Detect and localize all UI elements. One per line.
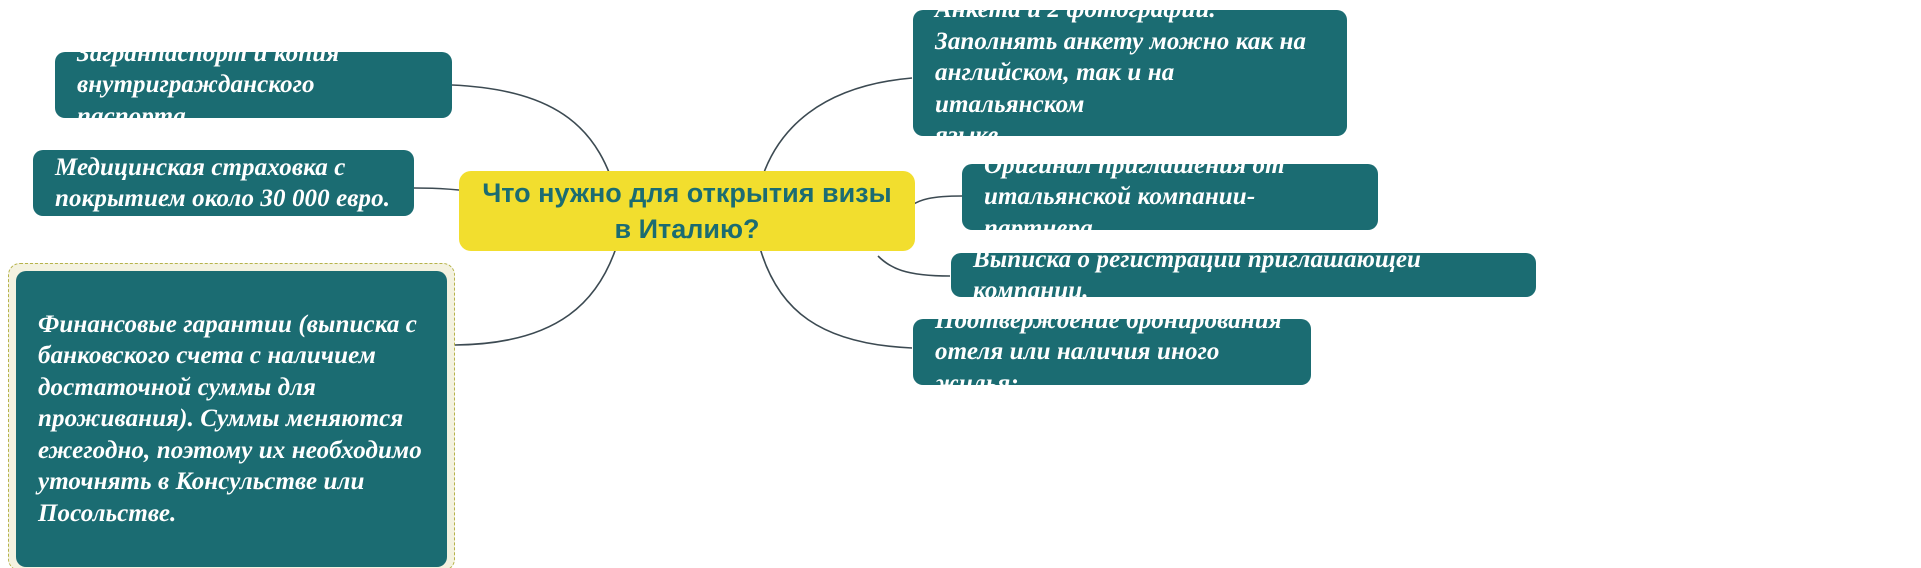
central-node-label: Что нужно для открытия визы в Италию? bbox=[473, 175, 901, 247]
connector-to-invitation-original bbox=[912, 196, 962, 205]
branch-node-medical-insurance[interactable]: Медицинская страховка с покрытием около … bbox=[33, 150, 414, 216]
branch-node-hotel-booking[interactable]: Подтверждение бронирования отеля или нал… bbox=[913, 319, 1311, 385]
branch-label-hotel-booking: Подтверждение бронирования отеля или нал… bbox=[935, 305, 1291, 400]
connector-to-form-photos bbox=[762, 78, 912, 178]
branch-node-form-photos[interactable]: Анкета и 2 фотографии. Заполнять анкету … bbox=[913, 10, 1347, 136]
branch-label-form-photos: Анкета и 2 фотографии. Заполнять анкету … bbox=[935, 0, 1327, 152]
branch-node-company-registration[interactable]: Выписка о регистрации приглашающей компа… bbox=[951, 253, 1536, 297]
connector-to-financial-guarantees bbox=[455, 242, 618, 345]
branch-node-financial-guarantees[interactable]: Финансовые гарантии (выписка с банковско… bbox=[16, 271, 447, 567]
branch-label-invitation-original: Оригинал приглашения от итальянской комп… bbox=[984, 150, 1358, 245]
branch-node-passport[interactable]: Загранпаспорт и копия внутригражданского… bbox=[55, 52, 452, 118]
branch-label-company-registration: Выписка о регистрации приглашающей компа… bbox=[973, 244, 1516, 307]
connector-to-company-registration bbox=[878, 256, 950, 276]
connector-to-hotel-booking bbox=[760, 248, 912, 348]
branch-label-medical-insurance: Медицинская страховка с покрытием около … bbox=[55, 152, 394, 215]
branch-label-financial-guarantees: Финансовые гарантии (выписка с банковско… bbox=[38, 309, 427, 530]
central-node[interactable]: Что нужно для открытия визы в Италию? bbox=[459, 171, 915, 251]
branch-node-invitation-original[interactable]: Оригинал приглашения от итальянской комп… bbox=[962, 164, 1378, 230]
branch-label-passport: Загранпаспорт и копия внутригражданского… bbox=[77, 38, 432, 133]
mindmap-canvas: Загранпаспорт и копия внутригражданского… bbox=[0, 0, 1921, 568]
